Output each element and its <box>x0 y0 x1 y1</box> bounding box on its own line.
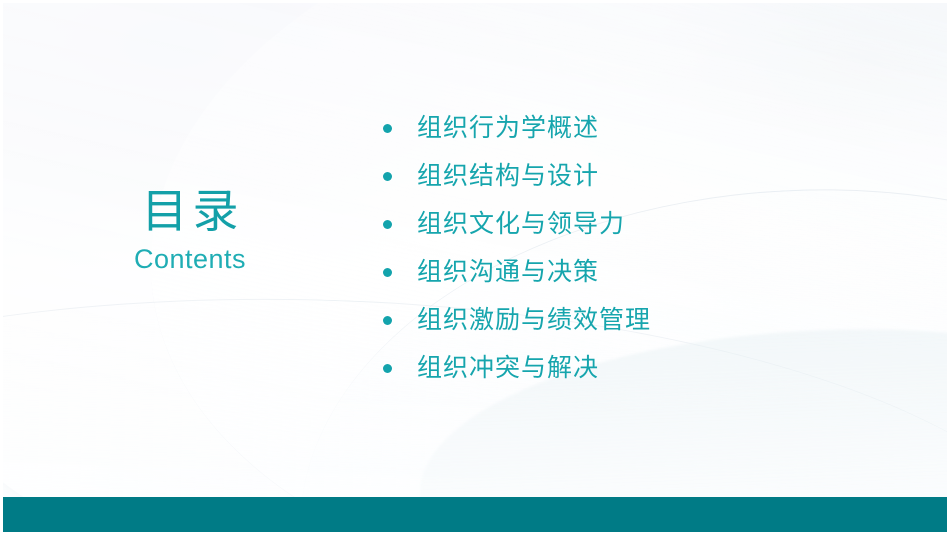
list-item[interactable]: 组织行为学概述 <box>383 104 651 152</box>
bottom-accent-bar <box>3 497 947 532</box>
slide-canvas: 目录 Contents 组织行为学概述 组织结构与设计 组织文化与领导力 组织沟… <box>0 0 950 535</box>
page-title-chinese: 目录 <box>60 185 320 237</box>
bullet-dot-icon <box>383 268 392 277</box>
bullet-dot-icon <box>383 124 392 133</box>
list-item[interactable]: 组织沟通与决策 <box>383 248 651 296</box>
list-item-label: 组织沟通与决策 <box>417 260 599 285</box>
list-item-label: 组织冲突与解决 <box>417 356 599 381</box>
list-item-label: 组织行为学概述 <box>417 116 599 141</box>
bullet-dot-icon <box>383 172 392 181</box>
list-item[interactable]: 组织文化与领导力 <box>383 200 651 248</box>
page-title-english: Contents <box>60 245 320 275</box>
list-item[interactable]: 组织激励与绩效管理 <box>383 296 651 344</box>
bullet-dot-icon <box>383 220 392 229</box>
list-item-label: 组织激励与绩效管理 <box>417 308 651 333</box>
list-item[interactable]: 组织结构与设计 <box>383 152 651 200</box>
list-item[interactable]: 组织冲突与解决 <box>383 344 651 392</box>
table-of-contents-list: 组织行为学概述 组织结构与设计 组织文化与领导力 组织沟通与决策 组织激励与绩效… <box>383 104 651 392</box>
bullet-dot-icon <box>383 364 392 373</box>
list-item-label: 组织文化与领导力 <box>417 212 625 237</box>
list-item-label: 组织结构与设计 <box>417 164 599 189</box>
title-block: 目录 Contents <box>60 185 320 275</box>
bullet-dot-icon <box>383 316 392 325</box>
